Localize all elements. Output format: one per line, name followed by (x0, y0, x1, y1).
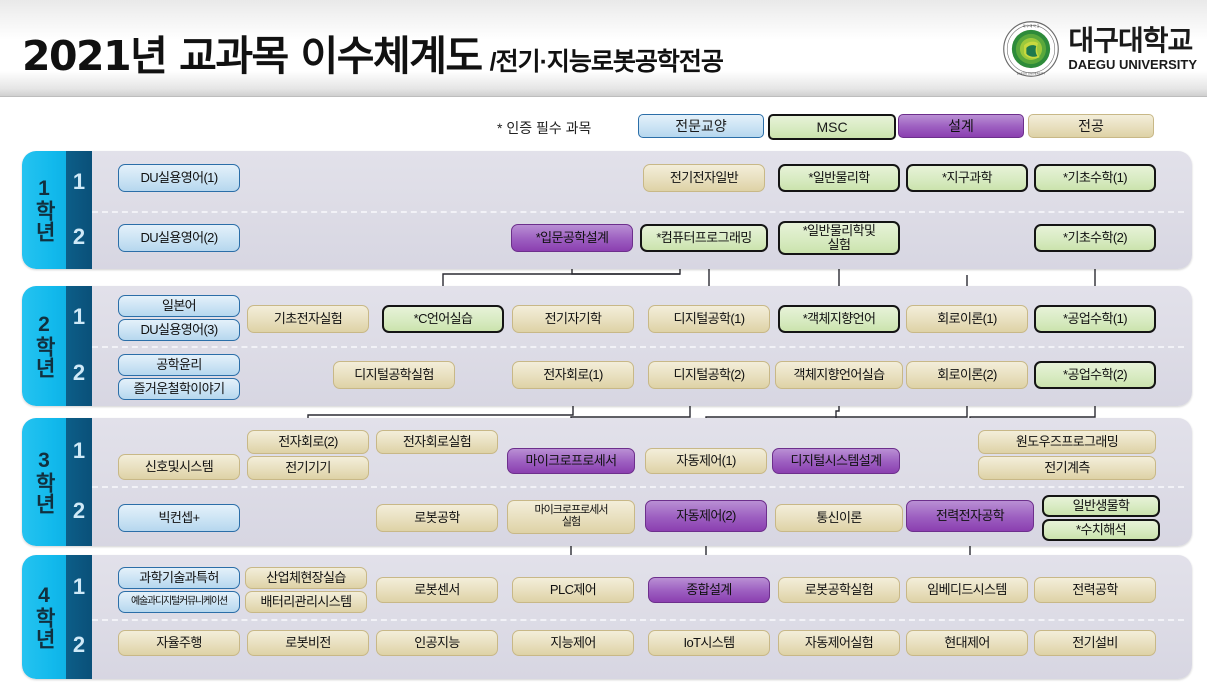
course-box[interactable]: *객체지향언어 (778, 305, 900, 333)
course-box[interactable]: *공업수학(1) (1034, 305, 1156, 333)
semester-column: 12 (66, 418, 92, 546)
year-number: 2 (38, 314, 50, 335)
course-box[interactable]: 로봇공학 (376, 504, 498, 532)
course-box[interactable]: 마이크로프로세서 (507, 448, 635, 474)
course-box[interactable]: 일반생물학 (1042, 495, 1160, 517)
course-box[interactable]: 전기전자일반 (643, 164, 765, 192)
semester-column: 12 (66, 286, 92, 406)
semester-divider (92, 346, 1184, 348)
course-box[interactable]: 종합설계 (648, 577, 770, 603)
course-box[interactable]: 디지털공학실험 (333, 361, 455, 389)
course-box[interactable]: 디지털공학(1) (648, 305, 770, 333)
course-box[interactable]: 산업체현장실습 (245, 567, 367, 589)
course-box[interactable]: 임베디드시스템 (906, 577, 1028, 603)
semester-number-1: 1 (66, 574, 92, 600)
course-box[interactable]: 즐거운철학이야기 (118, 378, 240, 400)
year-number: 3 (38, 450, 50, 471)
course-box[interactable]: *기초수학(1) (1034, 164, 1156, 192)
semester-number-1: 1 (66, 169, 92, 195)
logo-text: 대구대학교 DAEGU UNIVERSITY (1068, 27, 1197, 71)
semester-divider (92, 486, 1184, 488)
course-box[interactable]: 공학윤리 (118, 354, 240, 376)
title-block: 2021년 교과목 이수체계도 /전기·지능로봇공학전공 (22, 22, 723, 82)
year-number: 4 (38, 585, 50, 606)
course-box[interactable]: 지능제어 (512, 630, 634, 656)
course-box[interactable]: *컴퓨터프로그래밍 (640, 224, 768, 252)
course-box[interactable]: 전자회로(2) (247, 430, 369, 454)
course-box[interactable]: 전기설비 (1034, 630, 1156, 656)
semester-number-2: 2 (66, 498, 92, 524)
course-box[interactable]: 과학기술과특허 (118, 567, 240, 589)
page-title: 2021년 교과목 이수체계도 (22, 22, 482, 82)
course-box[interactable]: 현대제어 (906, 630, 1028, 656)
course-box[interactable]: 로봇공학실험 (778, 577, 900, 603)
year-number: 1 (38, 178, 50, 199)
course-box[interactable]: 전자회로실험 (376, 430, 498, 454)
course-box[interactable]: 객체지향언어실습 (775, 361, 903, 389)
course-box[interactable]: DU실용영어(2) (118, 224, 240, 252)
legend-item-liberal: 전문교양 (638, 114, 764, 138)
svg-text:DAEGU UNIVERSITY: DAEGU UNIVERSITY (1017, 72, 1046, 76)
legend-item-design: 설계 (898, 114, 1024, 138)
legend-note: * 인증 필수 과목 (497, 118, 591, 138)
logo-english-name: DAEGU UNIVERSITY (1068, 58, 1197, 71)
semester-divider (92, 211, 1184, 213)
year-label-4: 4학년 (22, 555, 66, 679)
course-box[interactable]: IoT시스템 (648, 630, 770, 656)
year-suffix: 학년 (33, 472, 54, 514)
course-box[interactable]: 예술과디지털커뮤니케이션 (118, 591, 240, 613)
course-box[interactable]: 배터리관리시스템 (245, 591, 367, 613)
course-box[interactable]: 전력공학 (1034, 577, 1156, 603)
svg-text:대 구 대 학 교: 대 구 대 학 교 (1023, 23, 1040, 28)
year-label-1: 1학년 (22, 151, 66, 269)
legend-item-major: 전공 (1028, 114, 1154, 138)
course-box[interactable]: 인공지능 (376, 630, 498, 656)
year-suffix: 학년 (33, 607, 54, 649)
course-box[interactable]: 자동제어(1) (645, 448, 767, 474)
course-box[interactable]: *수치해석 (1042, 519, 1160, 541)
course-box[interactable]: 로봇센서 (376, 577, 498, 603)
daegu-university-emblem-icon: 대 구 대 학 교 DAEGU UNIVERSITY (1002, 20, 1060, 78)
semester-number-1: 1 (66, 304, 92, 330)
page-header: 2021년 교과목 이수체계도 /전기·지능로봇공학전공 대 구 대 학 교 D… (0, 0, 1207, 97)
semester-number-2: 2 (66, 360, 92, 386)
legend: * 인증 필수 과목 전문교양MSC설계전공 (0, 114, 1207, 140)
course-box[interactable]: *일반물리학및 실험 (778, 221, 900, 255)
semester-column: 12 (66, 151, 92, 269)
semester-column: 12 (66, 555, 92, 679)
course-box[interactable]: 전기자기학 (512, 305, 634, 333)
course-box[interactable]: 로봇비전 (247, 630, 369, 656)
legend-item-msc: MSC (768, 114, 896, 140)
course-box[interactable]: 자동제어실험 (778, 630, 900, 656)
course-box[interactable]: DU실용영어(3) (118, 319, 240, 341)
course-box[interactable]: 빅컨셉+ (118, 504, 240, 532)
course-box[interactable]: 통신이론 (775, 504, 903, 532)
semester-divider (92, 619, 1184, 621)
year-suffix: 학년 (33, 200, 54, 242)
year-label-2: 2학년 (22, 286, 66, 406)
logo-korean-name: 대구대학교 (1068, 27, 1197, 55)
curriculum-canvas: 1학년122학년123학년124학년12DU실용영어(1)전기전자일반*일반물리… (0, 143, 1207, 695)
course-box[interactable]: 일본어 (118, 295, 240, 317)
course-box[interactable]: 기초전자실험 (247, 305, 369, 333)
course-box[interactable]: 원도우즈프로그래밍 (978, 430, 1156, 454)
semester-number-1: 1 (66, 438, 92, 464)
course-box[interactable]: *일반물리학 (778, 164, 900, 192)
course-box[interactable]: 전기계측 (978, 456, 1156, 480)
semester-number-2: 2 (66, 632, 92, 658)
course-box[interactable]: 전력전자공학 (906, 500, 1034, 532)
page-subtitle: /전기·지능로봇공학전공 (490, 42, 723, 78)
year-suffix: 학년 (33, 336, 54, 378)
course-box[interactable]: *공업수학(2) (1034, 361, 1156, 389)
university-logo: 대 구 대 학 교 DAEGU UNIVERSITY 대구대학교 DAEGU U… (1002, 20, 1197, 78)
course-box[interactable]: *입문공학설계 (511, 224, 633, 252)
course-box[interactable]: *기초수학(2) (1034, 224, 1156, 252)
semester-number-2: 2 (66, 224, 92, 250)
year-label-3: 3학년 (22, 418, 66, 546)
course-box[interactable]: 마이크로프로세서 실험 (507, 500, 635, 534)
course-box[interactable]: 전기기기 (247, 456, 369, 480)
course-box[interactable]: DU실용영어(1) (118, 164, 240, 192)
course-box[interactable]: 자동제어(2) (645, 500, 767, 532)
course-box[interactable]: 회로이론(2) (906, 361, 1028, 389)
course-box[interactable]: 회로이론(1) (906, 305, 1028, 333)
course-box[interactable]: 자율주행 (118, 630, 240, 656)
course-box[interactable]: 디지털공학(2) (648, 361, 770, 389)
course-box[interactable]: 신호및시스템 (118, 454, 240, 480)
course-box[interactable]: *C언어실습 (382, 305, 504, 333)
course-box[interactable]: 전자회로(1) (512, 361, 634, 389)
course-box[interactable]: *지구과학 (906, 164, 1028, 192)
course-box[interactable]: PLC제어 (512, 577, 634, 603)
course-box[interactable]: 디지털시스템설계 (772, 448, 900, 474)
